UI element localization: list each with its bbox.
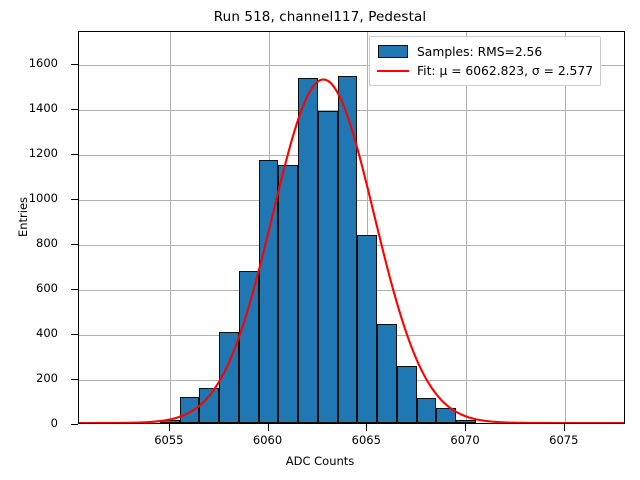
- x-tick-mark: [169, 424, 170, 431]
- x-tick-label: 6070: [430, 433, 500, 447]
- legend-label-samples: Samples: RMS=2.56: [417, 45, 542, 59]
- legend-label-fit: Fit: μ = 6062.823, σ = 2.577: [417, 64, 593, 78]
- legend-patch-icon: [376, 42, 410, 61]
- x-tick-mark: [465, 424, 466, 431]
- legend-entry-samples[interactable]: Samples: RMS=2.56: [376, 42, 593, 61]
- y-tick-mark: [71, 424, 78, 425]
- figure-canvas: Run 518, channel117, Pedestal 0200400600…: [0, 0, 640, 480]
- chart-legend[interactable]: Samples: RMS=2.56 Fit: μ = 6062.823, σ =…: [369, 36, 601, 86]
- y-tick-label: 1600: [0, 56, 58, 70]
- x-tick-mark: [268, 424, 269, 431]
- y-tick-label: 0: [0, 416, 58, 430]
- x-axis-label: ADC Counts: [0, 454, 640, 468]
- x-tick-label: 6060: [233, 433, 303, 447]
- legend-line-icon: [376, 61, 410, 80]
- y-tick-label: 400: [0, 326, 58, 340]
- y-axis-label: Entries: [16, 117, 30, 317]
- gaussian-fit-curve: [79, 32, 624, 423]
- x-tick-mark: [564, 424, 565, 431]
- legend-entry-fit[interactable]: Fit: μ = 6062.823, σ = 2.577: [376, 61, 593, 80]
- y-tick-mark: [71, 154, 78, 155]
- y-tick-mark: [71, 334, 78, 335]
- y-tick-mark: [71, 289, 78, 290]
- y-tick-mark: [71, 244, 78, 245]
- y-tick-mark: [71, 379, 78, 380]
- y-tick-mark: [71, 199, 78, 200]
- x-tick-mark: [366, 424, 367, 431]
- x-tick-label: 6055: [134, 433, 204, 447]
- chart-title: Run 518, channel117, Pedestal: [0, 9, 640, 25]
- y-tick-label: 200: [0, 371, 58, 385]
- y-tick-mark: [71, 64, 78, 65]
- x-tick-label: 6075: [529, 433, 599, 447]
- y-tick-label: 1400: [0, 101, 58, 115]
- plot-area[interactable]: [78, 31, 625, 424]
- y-tick-mark: [71, 109, 78, 110]
- x-tick-label: 6065: [331, 433, 401, 447]
